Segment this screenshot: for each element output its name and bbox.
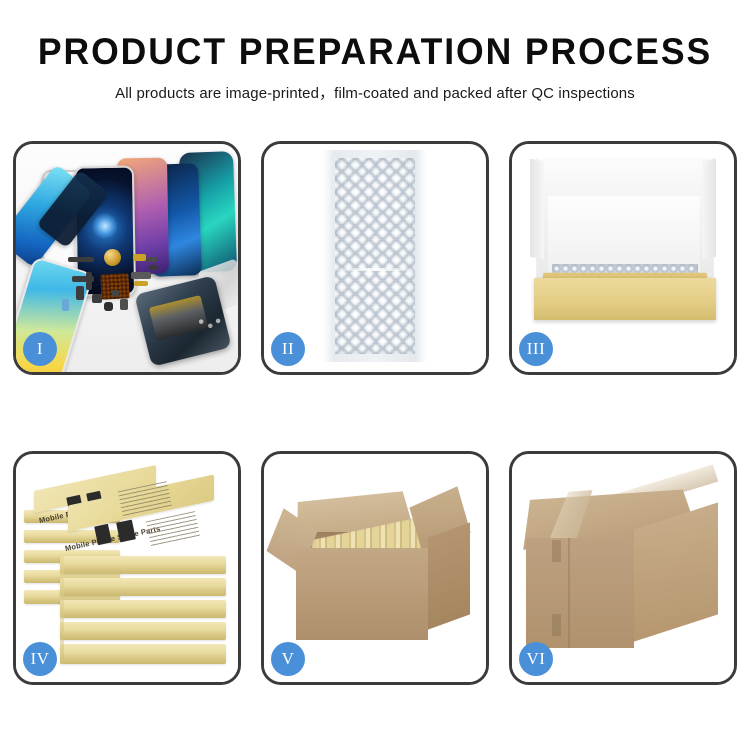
screws-group	[196, 316, 222, 330]
stacked-box-front-4	[60, 622, 226, 640]
stacked-box-front-3	[60, 600, 226, 618]
box-lid-flap-right	[702, 159, 716, 259]
part-camera-module	[104, 302, 113, 311]
step-badge-1: I	[23, 332, 57, 366]
box-lid-flap-left	[530, 159, 544, 259]
carton-seam-top	[552, 540, 561, 562]
part-blue-chip	[62, 299, 69, 311]
carton-flap-seam	[568, 538, 570, 648]
pouch-edge-left	[323, 150, 334, 362]
page-root: PRODUCT PREPARATION PROCESS All products…	[0, 0, 750, 750]
step-panel-5: V	[261, 451, 489, 685]
step-badge-6: VI	[519, 642, 553, 676]
step-panel-2: II	[261, 141, 489, 375]
part-button-set	[92, 294, 102, 303]
part-mic	[149, 265, 158, 270]
foam-sheet	[548, 196, 700, 272]
box-spec-lines-2	[146, 511, 200, 547]
part-antenna-flex	[131, 272, 151, 279]
kraft-box-body	[534, 278, 716, 320]
step-panel-4: Mobile Phone Spare Parts Mobile Phone Sp…	[13, 451, 241, 685]
part-side-key	[86, 272, 92, 290]
part-sensor	[112, 290, 119, 297]
process-steps-grid: I II	[13, 141, 737, 685]
part-vertical-clip	[76, 286, 84, 300]
sealed-carton-front	[526, 538, 634, 648]
part-gold-connector	[133, 254, 146, 261]
header: PRODUCT PREPARATION PROCESS All products…	[0, 0, 750, 103]
speaker-module-part	[104, 249, 121, 266]
page-subtitle: All products are image-printed，film-coat…	[6, 72, 745, 103]
step-panel-3: III	[509, 141, 737, 375]
carton-seam-bottom	[552, 614, 561, 636]
step-panel-1: I	[13, 141, 241, 375]
box-stack: Mobile Phone Spare Parts Mobile Phone Sp…	[20, 468, 234, 668]
pouch-edge-right	[416, 150, 427, 362]
part-small-bracket	[146, 257, 157, 262]
part-flex-cable	[68, 257, 94, 262]
bubble-pouch	[323, 150, 427, 362]
step-badge-4: IV	[23, 642, 57, 676]
bubble-wrap-texture	[335, 158, 415, 354]
part-gold-pin	[134, 281, 148, 286]
stacked-box-front-5	[60, 644, 226, 664]
step-panel-6: VI	[509, 451, 737, 685]
box-screen-print-4	[116, 520, 136, 543]
page-title: PRODUCT PREPARATION PROCESS	[15, 0, 735, 72]
step-badge-5: V	[271, 642, 305, 676]
part-battery-tab	[120, 299, 128, 310]
pouch-seam	[333, 268, 417, 271]
step-badge-3: III	[519, 332, 553, 366]
carton-front-panel	[296, 548, 428, 640]
stacked-box-front-1	[60, 556, 226, 574]
box-screen-print-3	[94, 524, 112, 545]
stack-edge-shadow	[60, 556, 64, 664]
carton-side-panel	[428, 522, 470, 629]
stacked-box-front-2	[60, 578, 226, 596]
step-badge-2: II	[271, 332, 305, 366]
